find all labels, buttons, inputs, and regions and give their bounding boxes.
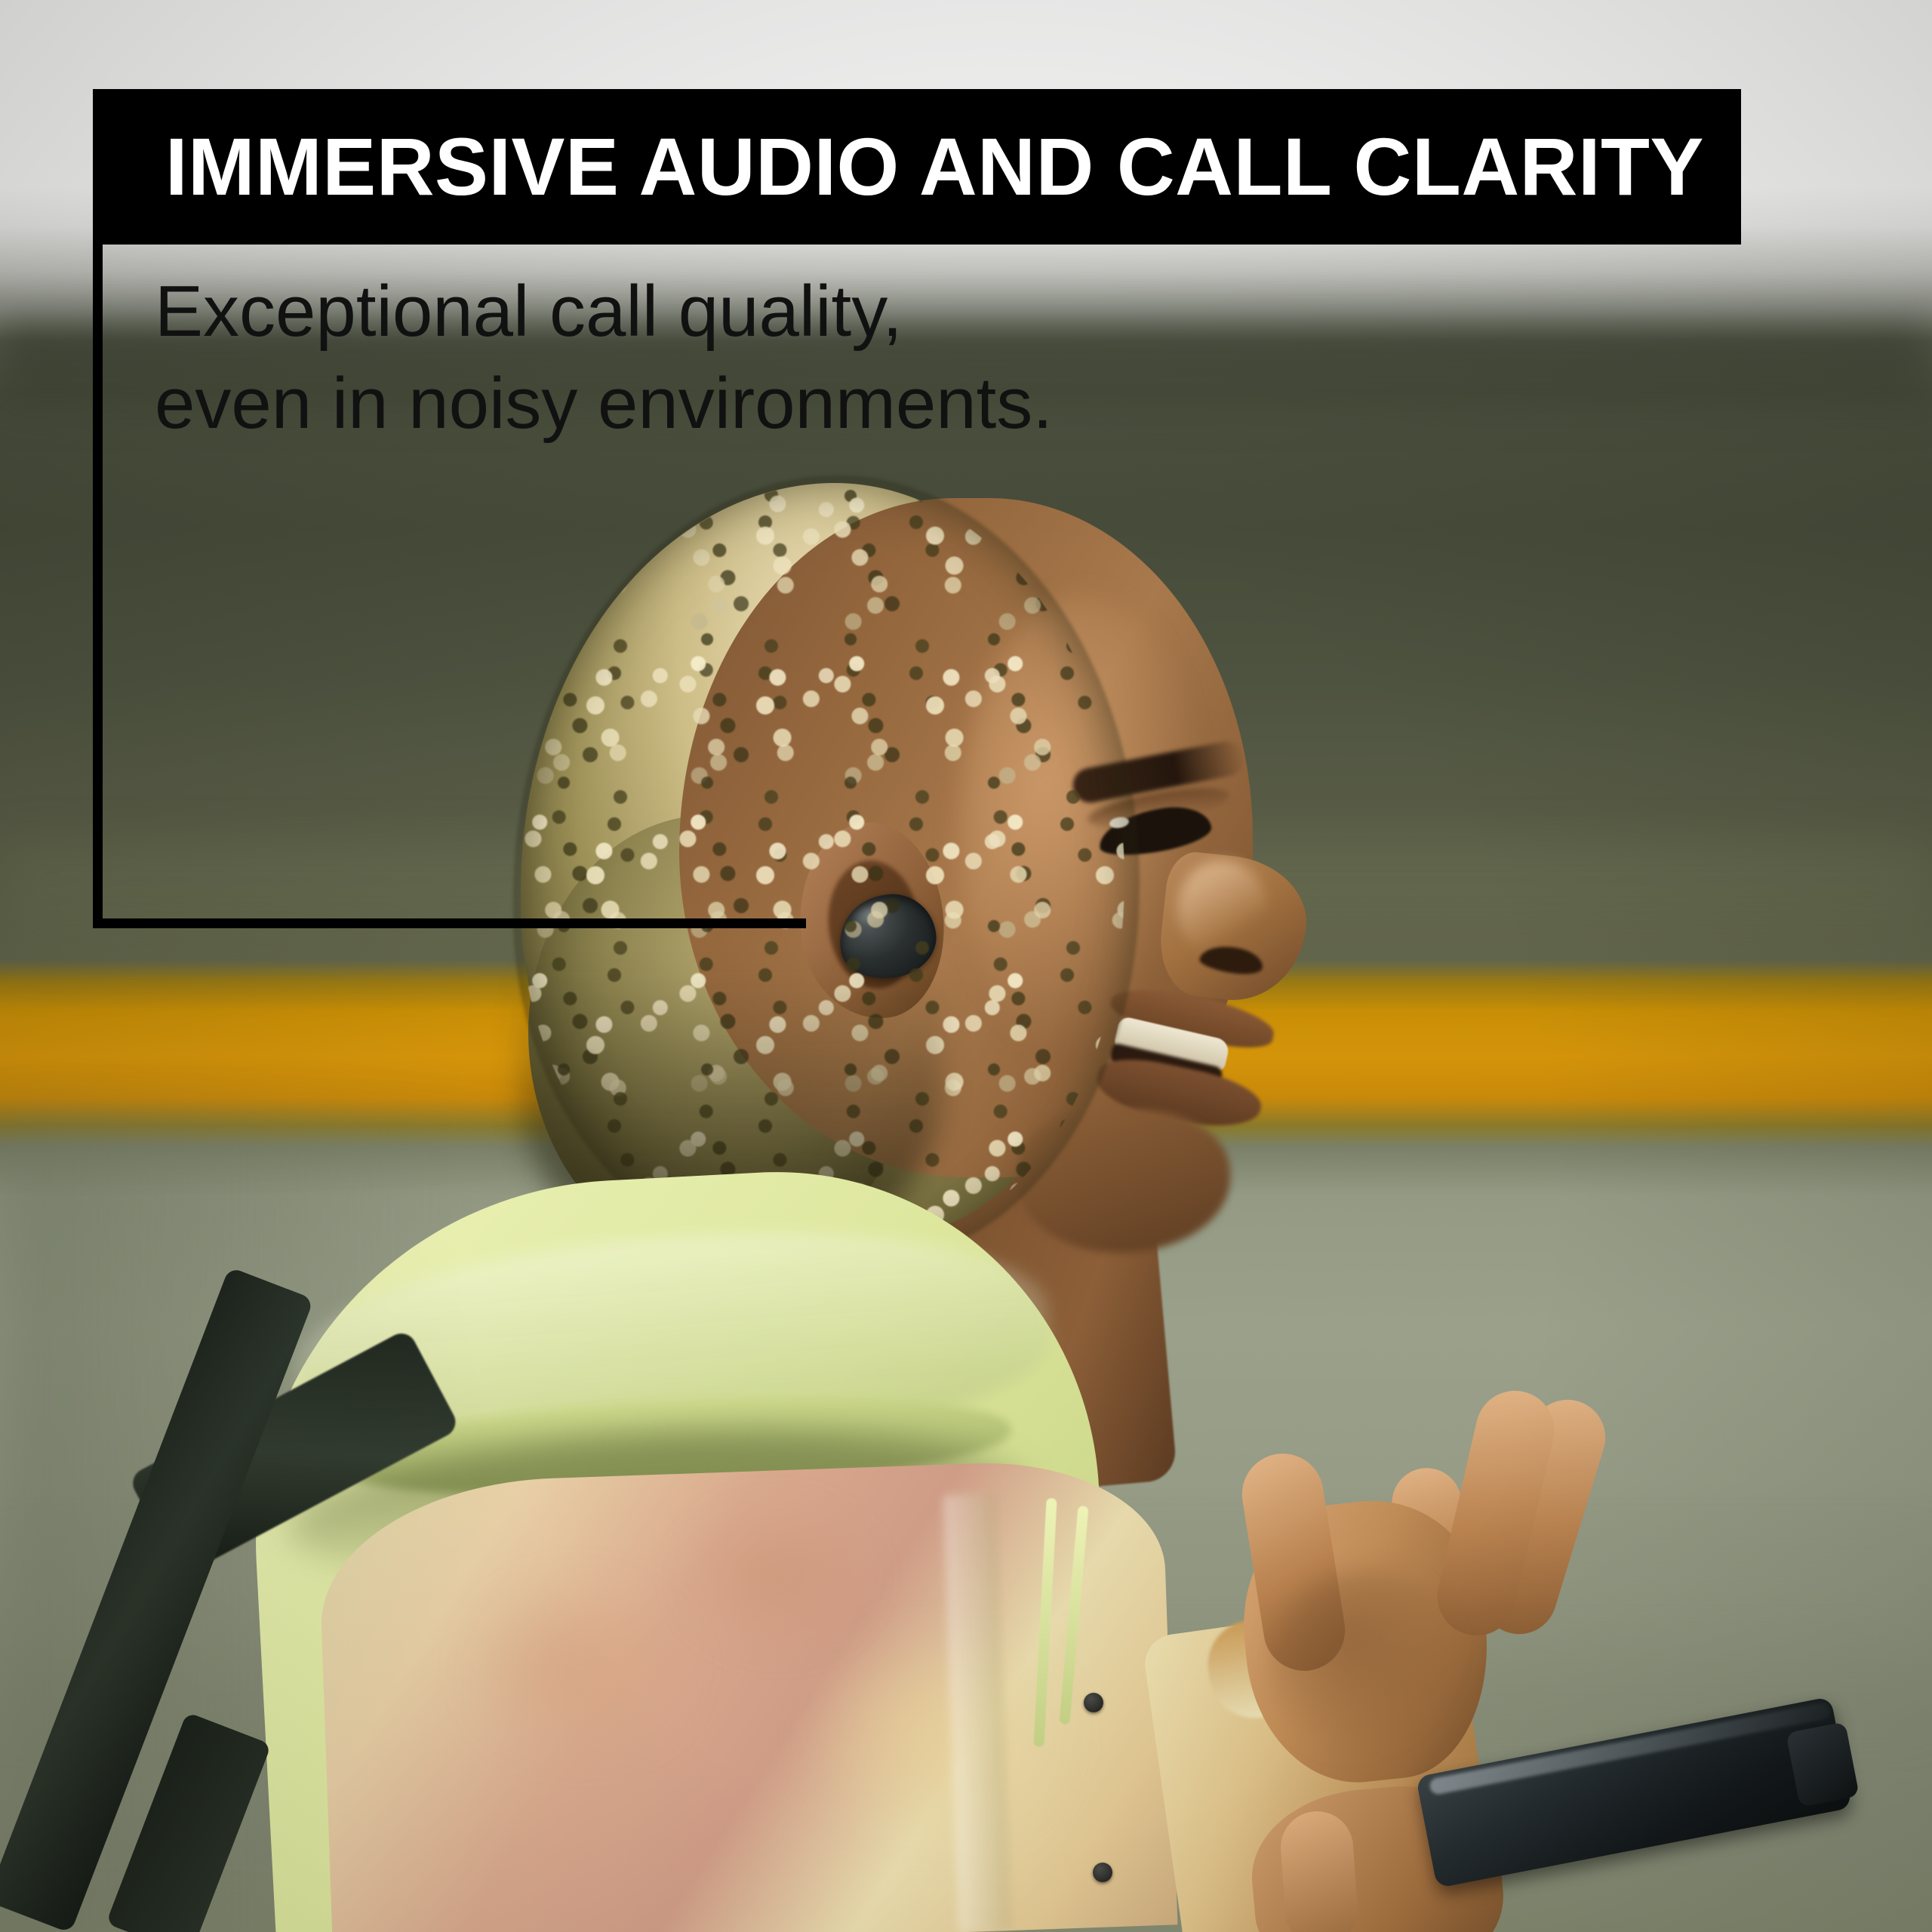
shirt-snap-lower [1093, 1863, 1112, 1882]
product-feature-banner: IMMERSIVE AUDIO AND CALL CLARITY Excepti… [0, 0, 1932, 1932]
nose-highlight [1177, 860, 1268, 958]
shirt-snap-upper [1084, 1693, 1103, 1712]
headline-banner: IMMERSIVE AUDIO AND CALL CLARITY [93, 89, 1741, 245]
frame-vertical-rule [93, 243, 103, 928]
shirt-pattern-a [468, 1577, 694, 1758]
headline-text: IMMERSIVE AUDIO AND CALL CLARITY [165, 126, 1704, 208]
palm-shading [1268, 1570, 1464, 1758]
shirt-pattern-b [800, 1623, 1072, 1849]
subheading-text: Exceptional call quality, even in noisy … [155, 266, 1053, 450]
shirt-pattern-c [679, 1502, 875, 1653]
frame-horizontal-rule [93, 918, 806, 928]
